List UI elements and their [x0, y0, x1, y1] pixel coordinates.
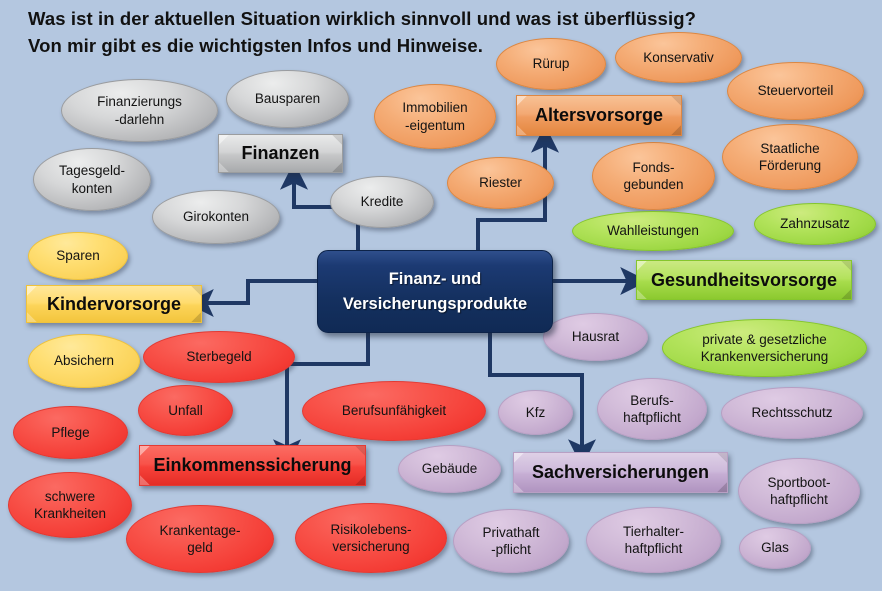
center-label-line2: Versicherungsprodukte [343, 292, 527, 317]
node-sportboothaftpflicht[interactable]: Sportboot- haftpflicht [738, 458, 860, 524]
node-rechtsschutz[interactable]: Rechtsschutz [721, 387, 863, 439]
node-label-line2: haftpflicht [623, 540, 684, 557]
node-label-line2: -eigentum [402, 117, 467, 134]
node-ruerup[interactable]: Rürup [496, 38, 606, 90]
node-label-line1: Rechtsschutz [751, 404, 832, 421]
node-label-line1: Riester [479, 174, 522, 191]
node-tierhalterhaftpflicht[interactable]: Tierhalter- haftpflicht [586, 507, 721, 573]
node-privathaftpflicht[interactable]: Privathaft -pflicht [453, 509, 569, 573]
node-berufsunfaehigkeit[interactable]: Berufsunfähigkeit [302, 381, 486, 441]
category-altersvorsorge[interactable]: Altersvorsorge [516, 95, 682, 136]
node-label-line1: Gebäude [422, 460, 478, 477]
node-immobilieneigentum[interactable]: Immobilien -eigentum [374, 84, 496, 149]
node-label-line2: konten [59, 180, 125, 197]
category-sachversicherungen[interactable]: Sachversicherungen [513, 452, 728, 493]
node-kfz[interactable]: Kfz [498, 390, 573, 435]
node-label-line1: Zahnzusatz [780, 215, 850, 232]
node-label-line1: Immobilien [402, 99, 467, 116]
node-label-line1: Berufsunfähigkeit [342, 402, 446, 419]
node-label-line2: Krankheiten [34, 505, 106, 522]
node-label-line1: Sterbegeld [186, 348, 251, 365]
node-hausrat[interactable]: Hausrat [543, 313, 648, 361]
node-label-line1: Tagesgeld- [59, 162, 125, 179]
node-label-line1: Kredite [361, 193, 404, 210]
node-risikolebensversicherung[interactable]: Risikolebens- versicherung [295, 503, 447, 573]
node-glas[interactable]: Glas [739, 527, 811, 569]
node-label-line1: Krankentage- [159, 522, 240, 539]
node-label-line1: Tierhalter- [623, 523, 684, 540]
title-line-2: Von mir gibt es die wichtigsten Infos un… [28, 33, 868, 60]
page-title: Was ist in der aktuellen Situation wirkl… [28, 6, 868, 60]
node-label-line2: Förderung [759, 157, 821, 174]
node-pflege[interactable]: Pflege [13, 406, 128, 459]
connector-kindervorsorge [201, 281, 317, 303]
category-label: Einkommenssicherung [147, 455, 357, 476]
category-label: Finanzen [235, 143, 325, 164]
node-label-line2: haftpflicht [767, 491, 830, 508]
node-label-line1: private & gesetzliche [701, 331, 829, 348]
node-label-line1: Bausparen [255, 90, 320, 107]
category-finanzen[interactable]: Finanzen [218, 134, 343, 173]
node-private-gesetzliche-krankenversicherung[interactable]: private & gesetzliche Krankenversicherun… [662, 319, 867, 377]
category-gesundheitsvorsorge[interactable]: Gesundheitsvorsorge [636, 260, 852, 300]
center-label-line1: Finanz- und [343, 267, 527, 292]
node-label-line2: gebunden [623, 176, 683, 193]
node-label-line1: Risikolebens- [330, 521, 411, 538]
node-staatliche-foerderung[interactable]: Staatliche Förderung [722, 124, 858, 190]
node-label-line2: -darlehn [97, 111, 182, 128]
node-label-line1: Rürup [533, 55, 570, 72]
node-label-line1: Absichern [54, 352, 114, 369]
node-label-line1: Kfz [526, 404, 546, 421]
node-kredite[interactable]: Kredite [330, 176, 434, 228]
node-wahlleistungen[interactable]: Wahlleistungen [572, 211, 734, 251]
node-label-line1: Fonds- [623, 159, 683, 176]
node-schwere-krankheiten[interactable]: schwere Krankheiten [8, 472, 132, 538]
node-gebaeude[interactable]: Gebäude [398, 445, 501, 493]
node-zahnzusatz[interactable]: Zahnzusatz [754, 203, 876, 245]
node-sterbegeld[interactable]: Sterbegeld [143, 331, 295, 383]
mindmap-canvas: Was ist in der aktuellen Situation wirkl… [0, 0, 882, 591]
node-riester[interactable]: Riester [447, 157, 554, 209]
node-girokonten[interactable]: Girokonten [152, 190, 280, 244]
node-label-line1: Staatliche [759, 140, 821, 157]
node-konservativ[interactable]: Konservativ [615, 32, 742, 83]
node-label-line1: Berufs- [623, 392, 681, 409]
node-label-line1: Finanzierungs [97, 93, 182, 110]
node-label-line1: Glas [761, 539, 789, 556]
category-kindervorsorge[interactable]: Kindervorsorge [26, 285, 202, 323]
node-berufshaftpflicht[interactable]: Berufs- haftpflicht [597, 378, 707, 440]
node-label-line1: Steuervorteil [758, 82, 834, 99]
node-label-line2: -pflicht [482, 541, 539, 558]
node-label-line2: versicherung [330, 538, 411, 555]
node-finanzierungsdarlehn[interactable]: Finanzierungs -darlehn [61, 79, 218, 142]
node-label-line1: Sparen [56, 247, 100, 264]
node-label-line1: Sportboot- [767, 474, 830, 491]
node-unfall[interactable]: Unfall [138, 385, 233, 436]
title-line-1: Was ist in der aktuellen Situation wirkl… [28, 6, 868, 33]
node-label-line1: Privathaft [482, 524, 539, 541]
node-bausparen[interactable]: Bausparen [226, 70, 349, 128]
node-label-line1: Hausrat [572, 328, 619, 345]
node-label-line1: Unfall [168, 402, 203, 419]
node-steuervorteil[interactable]: Steuervorteil [727, 62, 864, 120]
node-label-line1: Wahlleistungen [607, 222, 699, 239]
node-absichern[interactable]: Absichern [28, 334, 140, 388]
node-label-line1: Girokonten [183, 208, 249, 225]
category-einkommenssicherung[interactable]: Einkommenssicherung [139, 445, 366, 486]
category-label: Altersvorsorge [529, 105, 669, 126]
category-label: Kindervorsorge [41, 294, 187, 315]
node-label-line2: haftpflicht [623, 409, 681, 426]
node-label-line1: Konservativ [643, 49, 714, 66]
category-label: Sachversicherungen [526, 462, 715, 483]
node-sparen[interactable]: Sparen [28, 232, 128, 280]
node-krankentagegeld[interactable]: Krankentage- geld [126, 505, 274, 573]
node-fondsgebunden[interactable]: Fonds- gebunden [592, 142, 715, 210]
node-tagesgeldkonten[interactable]: Tagesgeld- konten [33, 148, 151, 211]
node-label-line2: Krankenversicherung [701, 348, 829, 365]
node-label-line1: schwere [34, 488, 106, 505]
center-node[interactable]: Finanz- und Versicherungsprodukte [317, 250, 553, 333]
category-label: Gesundheitsvorsorge [645, 270, 843, 291]
node-label-line1: Pflege [51, 424, 89, 441]
node-label-line2: geld [159, 539, 240, 556]
